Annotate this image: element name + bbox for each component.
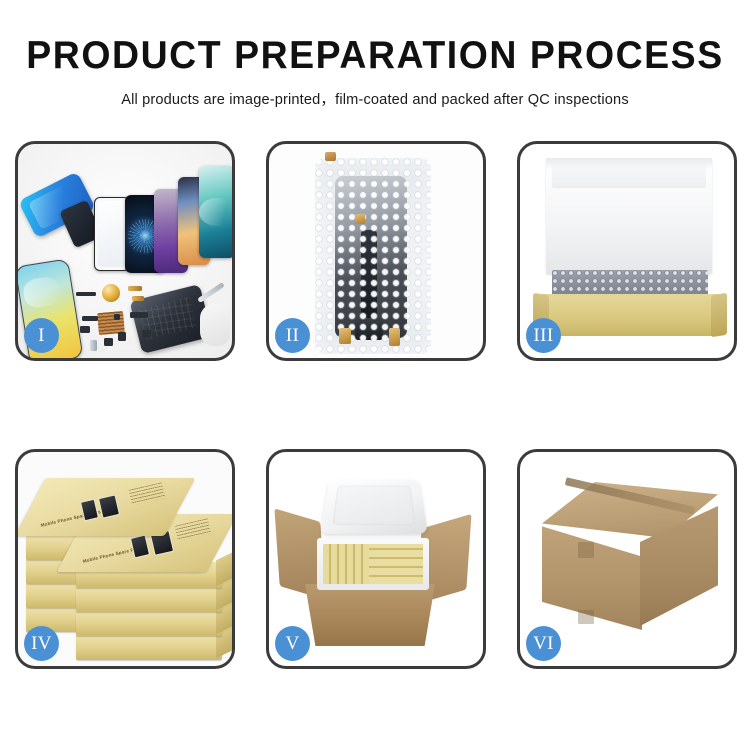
step-badge-3: III xyxy=(526,318,561,353)
gold-connector xyxy=(339,328,351,344)
step-badge-5: V xyxy=(275,626,310,661)
step-badge-6: VI xyxy=(526,626,561,661)
bubble-wrap-bag xyxy=(315,158,431,354)
spare-part xyxy=(90,340,97,351)
spare-part xyxy=(132,296,144,301)
spare-part xyxy=(114,314,120,320)
gold-connector xyxy=(389,328,400,346)
kraft-box xyxy=(76,586,222,612)
step-panel-5-foam-box-in-carton: V xyxy=(266,449,486,669)
carton-tab xyxy=(578,610,594,624)
carton-tab xyxy=(578,542,594,558)
spare-part xyxy=(76,292,96,296)
kraft-box-tray xyxy=(538,294,722,336)
step-panel-4-stacked-kraft-boxes: Mobile Phone Spare Parts Mobile Phone Sp… xyxy=(15,449,235,669)
step-panel-3-foam-lined-kraft-box: III xyxy=(517,141,737,361)
technician-hand xyxy=(200,304,230,346)
teal-phone-display xyxy=(199,166,232,258)
packed-kraft-boxes xyxy=(323,544,423,584)
product-preparation-infographic: PRODUCT PREPARATION PROCESS All products… xyxy=(0,0,750,750)
foam-box-open-lid xyxy=(320,479,428,533)
white-foam-lid xyxy=(546,158,712,274)
tape-tab xyxy=(325,152,336,161)
step-badge-2: II xyxy=(275,318,310,353)
step-badge-4: IV xyxy=(24,626,59,661)
carton-body xyxy=(305,584,435,646)
page-subtitle: All products are image-printed，film-coat… xyxy=(0,88,750,109)
spare-part xyxy=(118,332,126,341)
process-steps-grid: I II III xyxy=(15,141,737,669)
step-panel-6-sealed-carton: VI xyxy=(517,449,737,669)
header: PRODUCT PREPARATION PROCESS All products… xyxy=(0,36,750,109)
kraft-box xyxy=(76,610,222,636)
spare-part xyxy=(104,338,113,346)
spare-part xyxy=(128,286,142,291)
kraft-box xyxy=(76,634,222,660)
gold-connector xyxy=(355,214,365,224)
wrapped-screen-assembly xyxy=(335,176,407,338)
step-panel-2-bubble-wrapped-screen: II xyxy=(266,141,486,361)
spare-part xyxy=(142,330,151,337)
flex-cable xyxy=(361,230,377,334)
spare-part xyxy=(82,316,98,321)
page-title: PRODUCT PREPARATION PROCESS xyxy=(15,36,735,77)
step-badge-1: I xyxy=(24,318,59,353)
step-panel-1-product-parts: I xyxy=(15,141,235,361)
spare-part xyxy=(130,312,148,318)
gold-component xyxy=(102,284,120,302)
spare-part xyxy=(80,326,90,333)
